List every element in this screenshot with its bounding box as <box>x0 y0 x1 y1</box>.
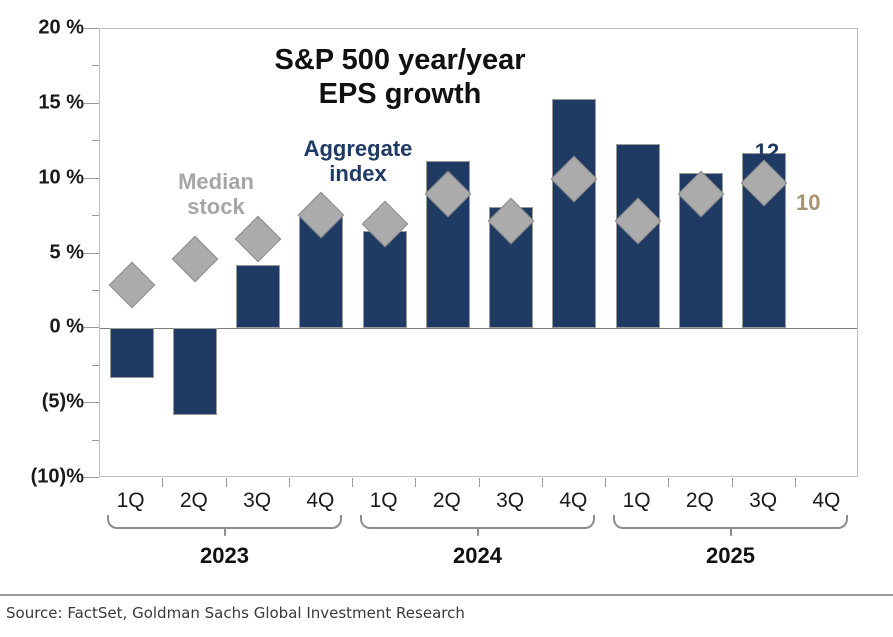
chart-title-line-1: S&P 500 year/year <box>220 43 580 77</box>
y-axis-tick-label: 15 % <box>38 91 84 114</box>
diamond-value-label-3q25: 10 <box>796 190 820 216</box>
brace-nub <box>477 527 479 536</box>
bar <box>236 265 280 328</box>
y-axis-tick-label: (10)% <box>31 466 84 489</box>
aggregate-index-label-line-1: Aggregate <box>278 136 438 161</box>
median-stock-diamond-marker <box>172 236 219 283</box>
chart-title: S&P 500 year/year EPS growth <box>220 43 580 111</box>
y-axis-tick-mark <box>84 477 99 478</box>
y-axis-tick-label: 20 % <box>38 17 84 40</box>
x-axis-quarter-label: 2Q <box>180 489 208 513</box>
aggregate-index-annotation: Aggregate index <box>278 136 438 187</box>
year-group-brace <box>360 515 595 529</box>
y-axis-tick-label: 10 % <box>38 166 84 189</box>
x-axis-tick-mark <box>668 478 669 487</box>
y-axis-tick-mark <box>84 402 99 403</box>
median-stock-diamond-marker <box>235 215 282 262</box>
x-axis-quarter-label: 2Q <box>686 489 714 513</box>
year-group-brace <box>107 515 342 529</box>
chart-title-line-2: EPS growth <box>220 77 580 111</box>
x-axis-quarter-label: 3Q <box>496 489 524 513</box>
x-axis-tick-mark <box>415 478 416 487</box>
x-axis-tick-mark <box>352 478 353 487</box>
aggregate-index-label-line-2: index <box>278 161 438 186</box>
x-axis-quarter-label: 1Q <box>623 489 651 513</box>
y-axis-minor-tick <box>92 365 99 366</box>
bar-value-label-3q25: 12 <box>755 139 779 165</box>
brace-nub <box>224 527 226 536</box>
year-group-brace <box>613 515 848 529</box>
median-stock-label-line-1: Median <box>146 169 286 194</box>
x-axis-tick-mark <box>226 478 227 487</box>
chart-page: 20 %15 %10 %5 %0 %(5)%(10)% S&P 500 year… <box>0 0 893 637</box>
x-axis-tick-mark <box>479 478 480 487</box>
y-axis-tick-mark <box>84 178 99 179</box>
y-axis-tick-mark <box>84 253 99 254</box>
x-axis-tick-mark <box>605 478 606 487</box>
y-axis-minor-tick <box>92 440 99 441</box>
y-axis-tick-label: 5 % <box>50 241 84 264</box>
x-axis-tick-mark <box>732 478 733 487</box>
x-axis-quarter-label: 3Q <box>243 489 271 513</box>
x-axis-quarter-label: 3Q <box>749 489 777 513</box>
bar <box>552 99 596 328</box>
x-axis-quarter-label: 1Q <box>370 489 398 513</box>
y-axis-tick-mark <box>84 327 99 328</box>
median-stock-annotation: Median stock <box>146 169 286 220</box>
median-stock-label-line-2: stock <box>146 194 286 219</box>
x-axis-quarter-label: 4Q <box>559 489 587 513</box>
x-axis-tick-mark <box>795 478 796 487</box>
x-axis-tick-mark <box>162 478 163 487</box>
x-axis-tick-mark <box>542 478 543 487</box>
x-axis-tick-mark <box>289 478 290 487</box>
median-stock-diamond-marker <box>108 262 155 309</box>
bar <box>173 328 217 415</box>
x-axis-quarter-label: 4Q <box>812 489 840 513</box>
y-axis-tick-mark <box>84 103 99 104</box>
y-axis-minor-tick <box>92 290 99 291</box>
brace-nub <box>730 527 732 536</box>
bar <box>110 328 154 377</box>
footer-divider <box>0 594 893 596</box>
x-axis-year-label: 2023 <box>200 543 249 569</box>
x-axis-quarter-label: 4Q <box>306 489 334 513</box>
plot-area: S&P 500 year/year EPS growth Median stoc… <box>99 28 858 477</box>
y-axis-tick-mark <box>84 28 99 29</box>
y-axis-tick-label: (5)% <box>42 391 84 414</box>
plot-inner: S&P 500 year/year EPS growth Median stoc… <box>100 29 857 476</box>
x-axis-year-label: 2024 <box>453 543 502 569</box>
x-axis-quarter-label: 1Q <box>117 489 145 513</box>
y-axis-minor-tick <box>92 140 99 141</box>
y-axis-tick-label: 0 % <box>50 316 84 339</box>
x-axis-quarter-label: 2Q <box>433 489 461 513</box>
source-note: Source: FactSet, Goldman Sachs Global In… <box>6 604 465 622</box>
y-axis-minor-tick <box>92 215 99 216</box>
x-axis-year-label: 2025 <box>706 543 755 569</box>
y-axis-minor-tick <box>92 65 99 66</box>
